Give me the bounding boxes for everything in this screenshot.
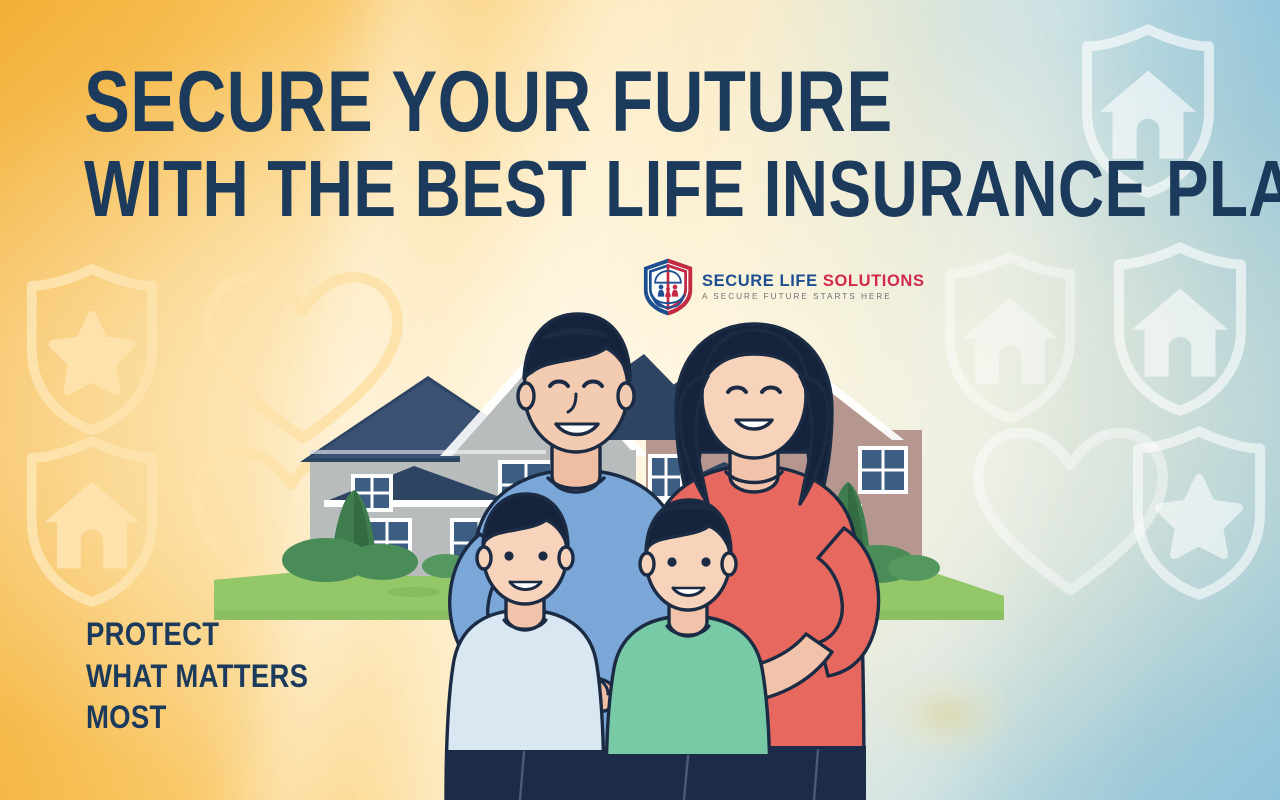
shield-umbrella-family-icon bbox=[641, 257, 695, 317]
kicker-text: PROTECT WHAT MATTERS MOST bbox=[86, 614, 344, 739]
kicker-line-1: PROTECT bbox=[86, 614, 308, 656]
headline-line-2: WITH THE BEST LIFE INSURANCE PLANS bbox=[84, 151, 996, 226]
insurance-ad-poster: SECURE YOUR FUTURE WITH THE BEST LIFE IN… bbox=[0, 0, 1280, 800]
shield-star-watermark bbox=[22, 262, 162, 437]
logo-name-part2: SOLUTIONS bbox=[823, 272, 925, 290]
logo-wordmark: SECURE LIFE SOLUTIONS A SECURE FUTURE ST… bbox=[702, 273, 925, 302]
headline-line-1: SECURE YOUR FUTURE bbox=[84, 62, 996, 143]
shield-house-watermark bbox=[22, 434, 162, 609]
logo-tagline: A SECURE FUTURE STARTS HERE bbox=[702, 293, 925, 301]
logo-company-name: SECURE LIFE SOLUTIONS bbox=[702, 273, 925, 290]
shield-house-watermark bbox=[1109, 240, 1251, 418]
logo-name-part1: SECURE LIFE bbox=[702, 272, 818, 290]
brand-logo: SECURE LIFE SOLUTIONS A SECURE FUTURE ST… bbox=[641, 257, 925, 317]
kicker-line-2: WHAT MATTERS bbox=[86, 656, 308, 698]
page-title: SECURE YOUR FUTURE WITH THE BEST LIFE IN… bbox=[84, 62, 1224, 226]
kicker-line-3: MOST bbox=[86, 697, 308, 739]
shield-star-watermark bbox=[1128, 424, 1270, 602]
